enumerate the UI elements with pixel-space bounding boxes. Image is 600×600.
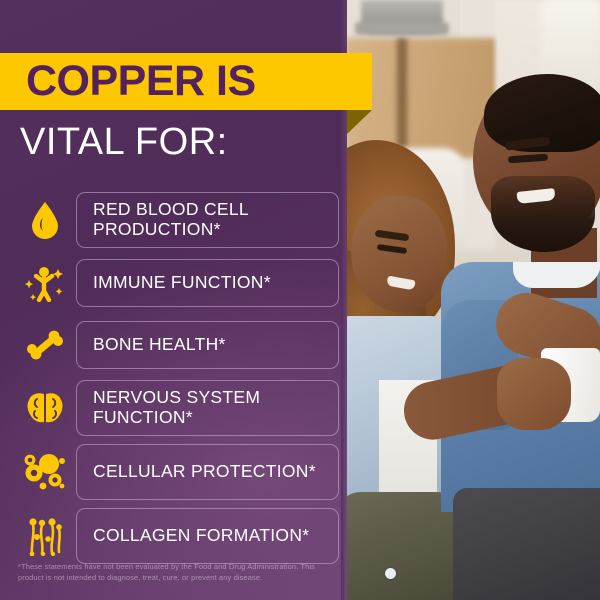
cell-molecule-icon [14,445,76,499]
list-item[interactable]: CELLULAR PROTECTION* [14,444,339,500]
benefit-box[interactable]: CELLULAR PROTECTION* [76,444,339,500]
benefit-label: BONE HEALTH* [93,335,226,355]
benefit-label: COLLAGEN FORMATION* [93,526,309,546]
banner-fold-shadow [347,110,372,134]
benefit-box[interactable]: COLLAGEN FORMATION* [76,508,339,564]
list-item[interactable]: COLLAGEN FORMATION* [14,508,339,564]
headline-title: COPPER IS [26,60,256,103]
benefits-list: RED BLOOD CELL PRODUCTION* IMMUNE FUNCTI… [14,192,339,572]
photo-woman-face [351,196,447,312]
immune-person-icon [14,256,76,310]
benefit-box[interactable]: NERVOUS SYSTEM FUNCTION* [76,380,339,436]
benefit-label: NERVOUS SYSTEM FUNCTION* [93,388,338,427]
photo-hand [497,358,571,430]
list-item[interactable]: BONE HEALTH* [14,318,339,372]
benefit-label: IMMUNE FUNCTION* [93,273,271,293]
benefit-box[interactable]: RED BLOOD CELL PRODUCTION* [76,192,339,248]
benefit-label: CELLULAR PROTECTION* [93,462,316,482]
blood-drop-icon [14,193,76,247]
photo-man-jeans [453,488,600,600]
photo-man-collar [513,262,600,288]
list-item[interactable]: NERVOUS SYSTEM FUNCTION* [14,380,339,436]
list-item[interactable]: RED BLOOD CELL PRODUCTION* [14,192,339,248]
copper-benefits-infographic: COPPER IS VITAL FOR: RED BLOOD CELL PROD… [0,0,600,600]
fda-disclaimer: *These statements have not been evaluate… [18,561,338,584]
brain-icon [14,381,76,435]
list-item[interactable]: IMMUNE FUNCTION* [14,256,339,310]
photo-cabinet-gap [397,38,407,158]
headline-banner: COPPER IS [0,53,372,110]
page-subtitle: VITAL FOR: [20,123,228,161]
bone-icon [14,318,76,372]
photo-pot-lid [355,22,449,35]
benefit-label: RED BLOOD CELL PRODUCTION* [93,200,338,239]
benefit-box[interactable]: IMMUNE FUNCTION* [76,259,339,307]
benefit-box[interactable]: BONE HEALTH* [76,321,339,369]
collagen-fiber-icon [14,509,76,563]
lifestyle-photo [345,0,600,600]
photo-woman-button [385,568,396,579]
photo-man-beard [491,176,595,252]
